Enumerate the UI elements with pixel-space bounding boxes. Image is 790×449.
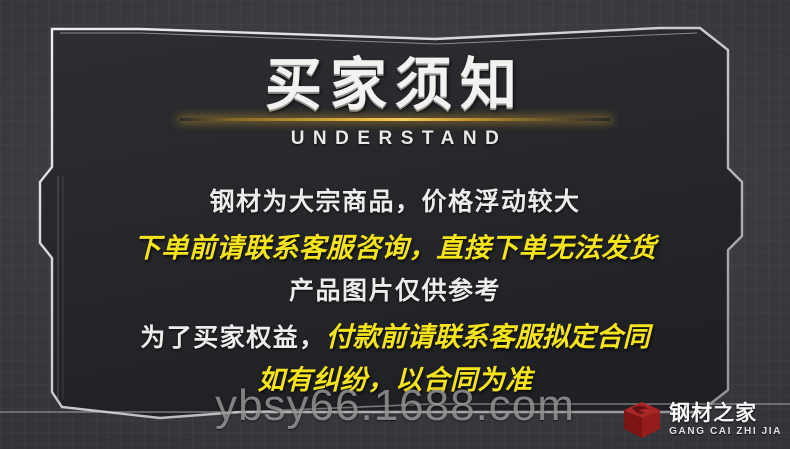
notice-line-5: 如有纠纷，以合同为准 (0, 358, 790, 397)
gold-divider (180, 118, 610, 121)
title-block: 买家须知 UNDERSTAND (0, 54, 790, 150)
notice-line-4-yellow: 付款前请联系客服拟定合同 (326, 322, 650, 353)
notice-line-4-white: 为了买家权益， (140, 323, 326, 352)
brand-name-pinyin: GANG CAI ZHI JIA (669, 427, 782, 437)
brand-logo: 钢材之家 GANG CAI ZHI JIA (620, 398, 782, 442)
notice-line-2: 下单前请联系客服咨询，直接下单无法发货 (0, 226, 790, 265)
page-title: 买家须知 (0, 54, 790, 116)
notice-lines: 钢材为大宗商品，价格浮动较大 下单前请联系客服咨询，直接下单无法发货 产品图片仅… (0, 182, 790, 397)
brand-name-cn: 钢材之家 (669, 401, 757, 425)
notice-line-4: 为了买家权益，付款前请联系客服拟定合同 (0, 315, 790, 354)
buyer-notice-banner: 买家须知 UNDERSTAND 钢材为大宗商品，价格浮动较大 下单前请联系客服咨… (0, 0, 790, 449)
notice-line-3: 产品图片仅供参考 (0, 271, 790, 307)
notice-line-1: 钢材为大宗商品，价格浮动较大 (0, 182, 790, 218)
banner-content: 买家须知 UNDERSTAND 钢材为大宗商品，价格浮动较大 下单前请联系客服咨… (0, 0, 790, 449)
page-subtitle: UNDERSTAND (0, 128, 790, 150)
brand-text: 钢材之家 GANG CAI ZHI JIA (669, 403, 782, 437)
red-cube-icon (620, 398, 664, 442)
